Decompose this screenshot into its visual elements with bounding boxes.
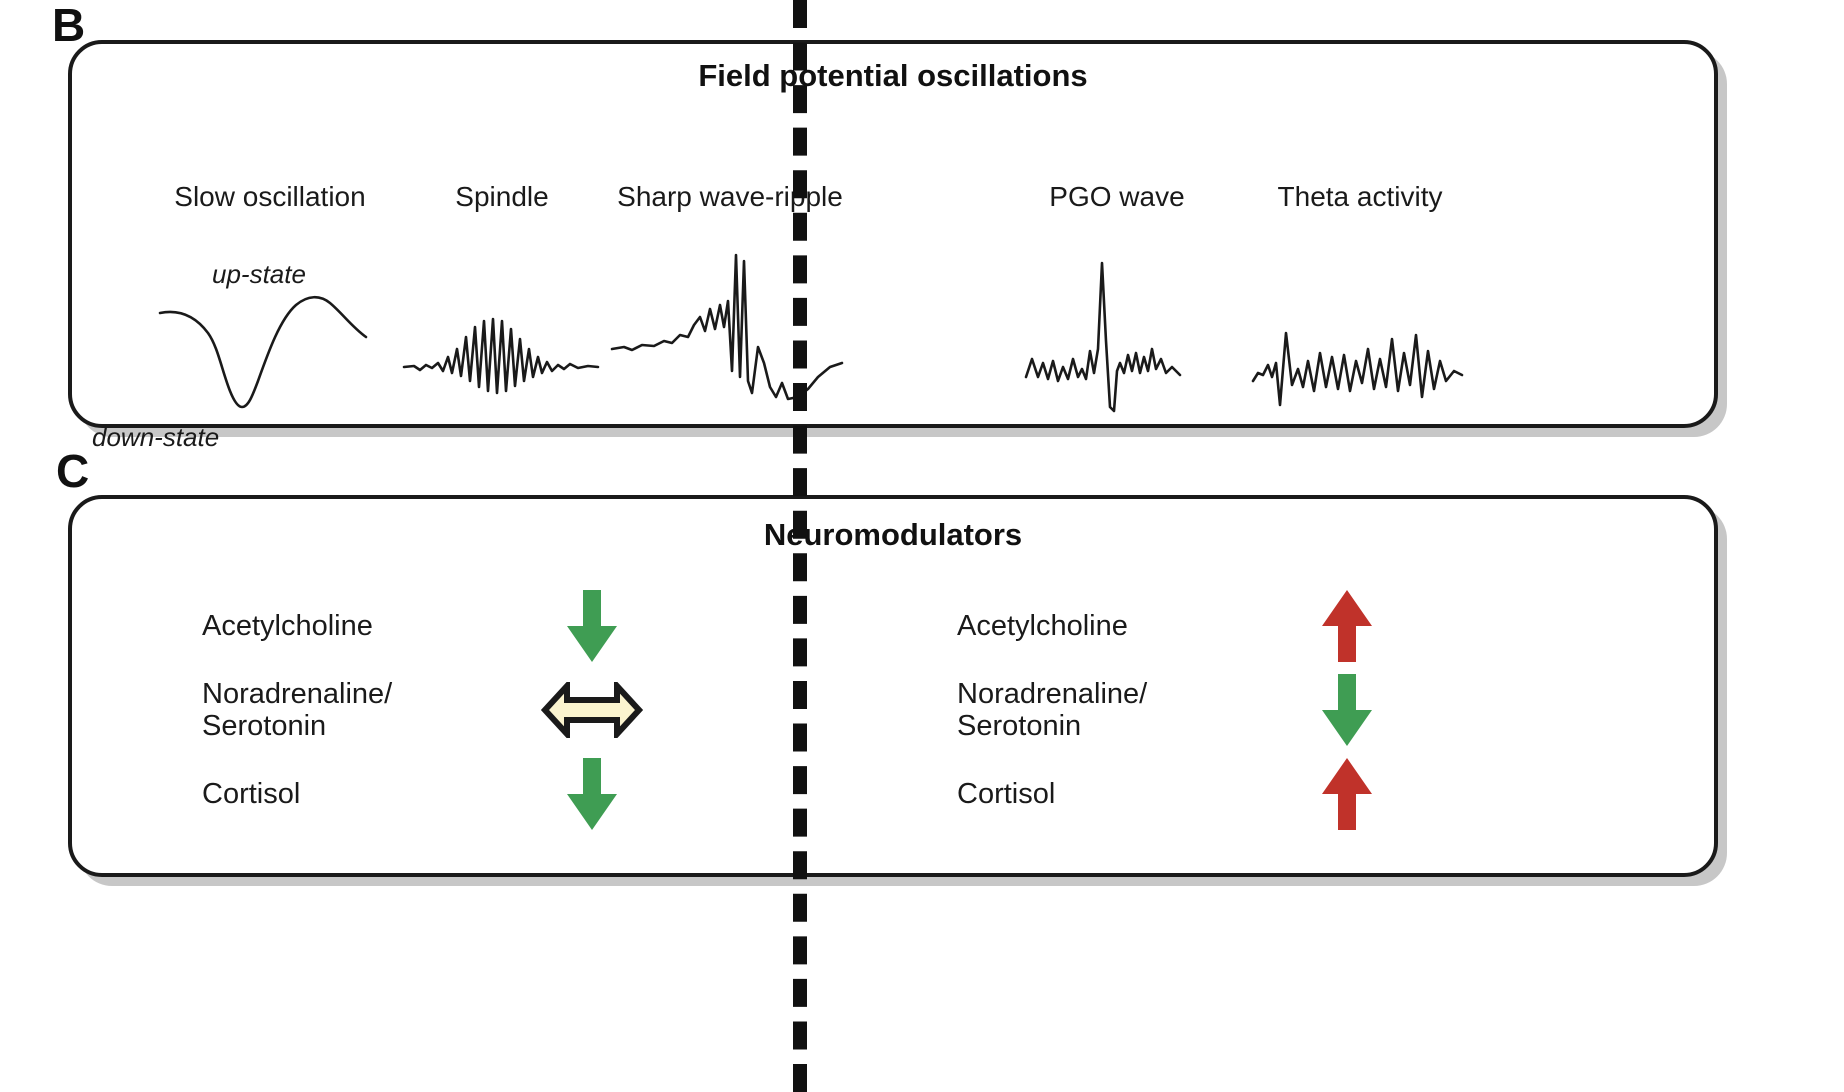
waveform-label-slow-oscillation: Slow oscillation (156, 182, 384, 213)
slow-oscillation-down-state-label: down-state (92, 422, 219, 453)
waveform-label-sharp-wave-ripple: Sharp wave-ripple (610, 182, 850, 213)
neuromodulator-row: Acetylcholine (202, 585, 802, 667)
arrow-up-icon (1287, 756, 1407, 832)
waveform-slow-oscillation: Slow oscillation (156, 182, 384, 421)
neuromodulator-group-rem: Acetylcholine Noradrenaline/ Serotonin C… (957, 585, 1557, 837)
slow-oscillation-trace (156, 221, 384, 421)
waveform-pgo-wave: PGO wave (1022, 182, 1212, 421)
field-potential-panel: Field potential oscillations Slow oscill… (68, 40, 1718, 428)
neuromodulator-name: Acetylcholine (202, 610, 532, 642)
arrow-left-right-icon (532, 682, 652, 738)
theta-activity-trace (1250, 221, 1470, 421)
neuromodulator-group-nonrem: Acetylcholine Noradrenaline/ Serotonin C… (202, 585, 802, 837)
sharp-wave-ripple-trace (610, 221, 850, 421)
waveform-label-theta-activity: Theta activity (1250, 182, 1470, 213)
pgo-wave-trace (1022, 221, 1212, 421)
waveform-label-pgo-wave: PGO wave (1022, 182, 1212, 213)
neuromodulators-panel: Neuromodulators Acetylcholine Noradrenal… (68, 495, 1718, 877)
arrow-up-icon (1287, 588, 1407, 664)
arrow-down-icon (532, 588, 652, 664)
arrow-down-icon (1287, 672, 1407, 748)
arrow-down-icon (532, 756, 652, 832)
waveform-label-spindle: Spindle (402, 182, 602, 213)
neuromodulator-row: Cortisol (957, 753, 1557, 835)
neuromodulator-row: Noradrenaline/ Serotonin (957, 669, 1557, 751)
neuromodulator-row: Acetylcholine (957, 585, 1557, 667)
panel-letter-b: B (52, 2, 85, 48)
neuromodulators-title: Neuromodulators (72, 517, 1714, 553)
vertical-dashed-divider (793, 0, 807, 1092)
neuromodulator-name: Cortisol (957, 778, 1287, 810)
waveform-spindle: Spindle (402, 182, 602, 421)
neuromodulator-name: Cortisol (202, 778, 532, 810)
neuromodulator-row: Noradrenaline/ Serotonin (202, 669, 802, 751)
neuromodulator-name: Acetylcholine (957, 610, 1287, 642)
neuromodulator-name: Noradrenaline/ Serotonin (202, 678, 532, 743)
panel-letter-c: C (56, 448, 89, 494)
neuromodulator-name: Noradrenaline/ Serotonin (957, 678, 1287, 743)
slow-oscillation-up-state-label: up-state (212, 259, 306, 290)
spindle-trace (402, 221, 602, 421)
waveform-theta-activity: Theta activity (1250, 182, 1470, 421)
neuromodulator-row: Cortisol (202, 753, 802, 835)
field-potential-title: Field potential oscillations (72, 58, 1714, 94)
waveform-sharp-wave-ripple: Sharp wave-ripple (610, 182, 850, 421)
